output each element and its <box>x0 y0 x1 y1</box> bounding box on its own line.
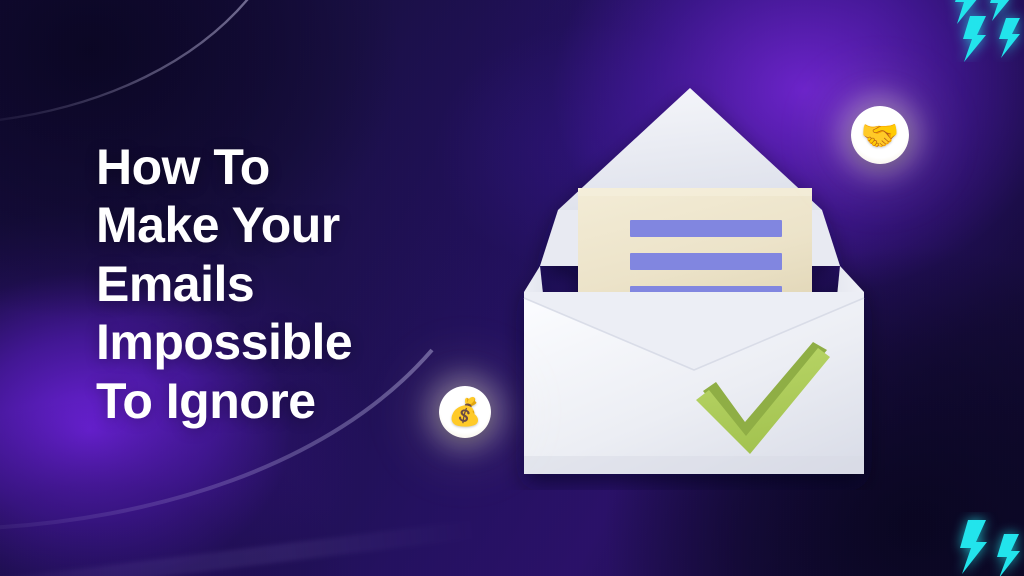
letter-text-line-1 <box>630 220 782 237</box>
envelope-icon <box>500 70 900 490</box>
promo-banner: How To Make Your Emails Impossible To Ig… <box>0 0 1024 576</box>
headline-line-5: To Ignore <box>96 372 486 431</box>
headline-line-3: Emails <box>96 255 486 314</box>
handshake-badge: 🤝 <box>851 106 909 164</box>
headline-line-4: Impossible <box>96 313 486 372</box>
headline-line-2: Make Your <box>96 196 486 255</box>
envelope-illustration <box>500 70 900 490</box>
envelope-group <box>524 88 864 474</box>
letter-text-line-2 <box>630 253 782 270</box>
handshake-icon: 🤝 <box>861 120 900 151</box>
envelope-bottom-shade <box>524 456 864 474</box>
money-bag-icon: 💰 <box>448 399 482 426</box>
money-bag-badge: 💰 <box>439 386 491 438</box>
headline-line-1: How To <box>96 138 486 197</box>
page-title: How To Make Your Emails Impossible To Ig… <box>96 138 486 431</box>
